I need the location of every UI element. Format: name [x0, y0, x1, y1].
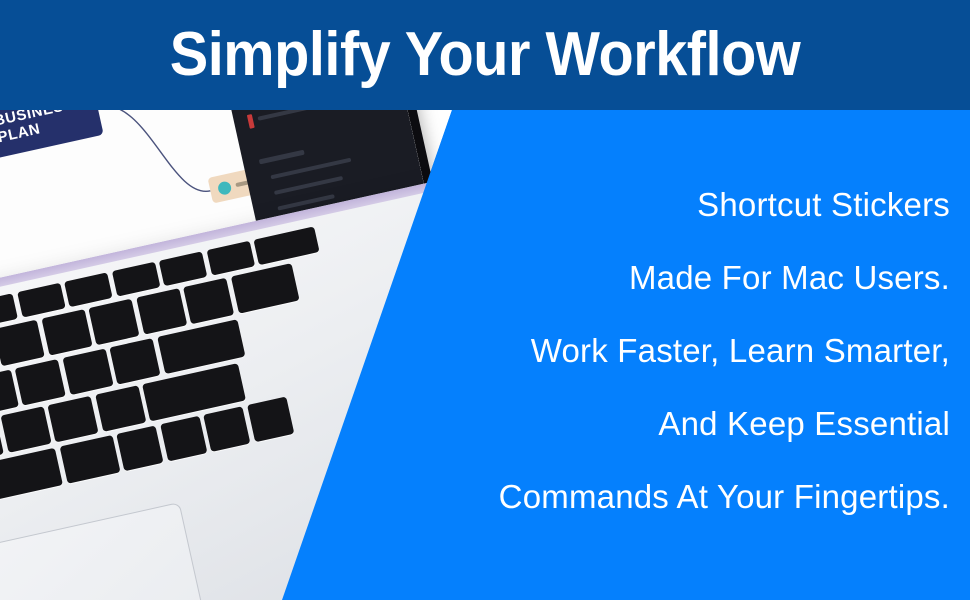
- copy-line: Commands At Your Fingertips.: [390, 460, 950, 533]
- key-option-right[interactable]: [116, 425, 163, 471]
- key[interactable]: [0, 320, 45, 367]
- key[interactable]: [230, 263, 299, 314]
- sidebar-list-item[interactable]: [257, 110, 344, 121]
- key[interactable]: [62, 349, 113, 396]
- key[interactable]: [0, 293, 18, 328]
- sidebar-list-item[interactable]: [274, 176, 343, 195]
- header-banner: Simplify Your Workflow: [0, 0, 970, 110]
- key[interactable]: [95, 385, 146, 432]
- poster-canvas: Simplify Your Workflow: [0, 0, 970, 600]
- key[interactable]: [0, 406, 51, 453]
- key-command-right[interactable]: [59, 435, 120, 484]
- node-icon: [217, 180, 233, 196]
- copy-line: And Keep Essential: [390, 387, 950, 460]
- key[interactable]: [183, 278, 234, 325]
- sidebar-section-heading: [259, 150, 305, 165]
- key-arrow-right[interactable]: [247, 397, 294, 443]
- key[interactable]: [17, 283, 66, 318]
- key[interactable]: [109, 338, 160, 385]
- marketing-copy: Shortcut Stickers Made For Mac Users. Wo…: [390, 168, 950, 533]
- key[interactable]: [206, 241, 255, 276]
- key[interactable]: [88, 299, 139, 346]
- content-area: BUSINESS PLAN: [0, 110, 970, 600]
- sidebar-alert-marker: [247, 114, 255, 129]
- page-title: Simplify Your Workflow: [170, 22, 801, 88]
- key[interactable]: [64, 272, 113, 307]
- key-space[interactable]: [0, 448, 63, 539]
- key-arrows[interactable]: [203, 406, 250, 452]
- laptop-trackpad[interactable]: [0, 502, 233, 600]
- key-delete[interactable]: [253, 226, 319, 265]
- key[interactable]: [47, 396, 98, 443]
- copy-line: Made For Mac Users.: [390, 241, 950, 314]
- key[interactable]: [15, 359, 66, 406]
- key[interactable]: [111, 262, 160, 297]
- key[interactable]: [41, 309, 92, 356]
- key[interactable]: [136, 288, 187, 335]
- copy-line: Work Faster, Learn Smarter,: [390, 314, 950, 387]
- key-arrow-left[interactable]: [160, 416, 207, 462]
- copy-line: Shortcut Stickers: [390, 168, 950, 241]
- key[interactable]: [159, 251, 208, 286]
